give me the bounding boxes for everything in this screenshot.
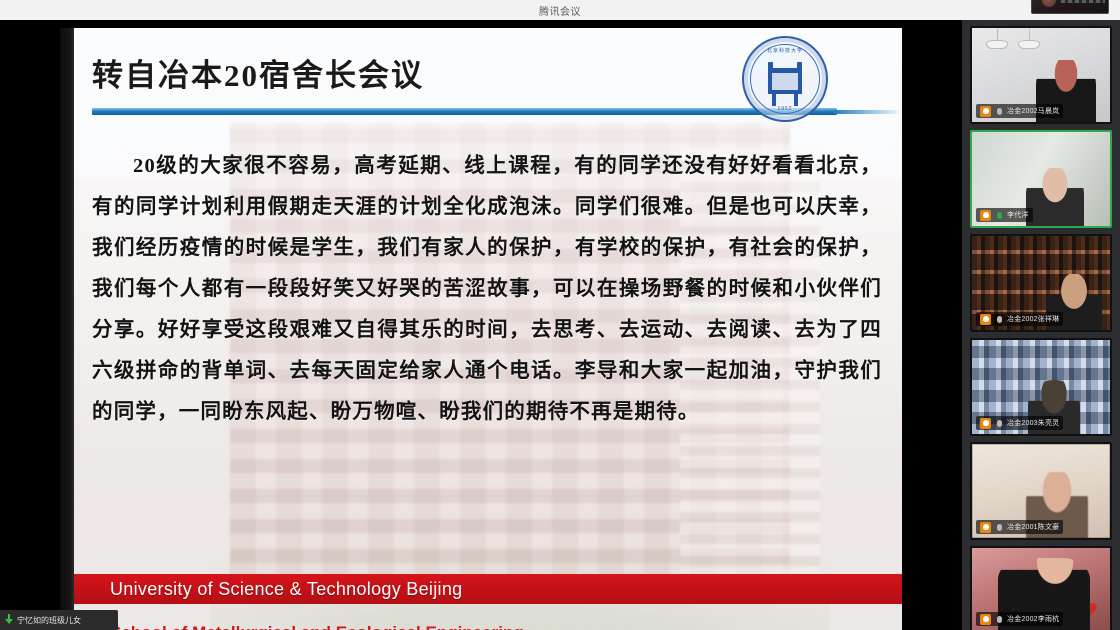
- microphone-muted-icon: [994, 614, 1004, 625]
- slide-left-spine: [60, 28, 74, 630]
- host-badge-icon: [980, 614, 991, 625]
- university-seal-logo: 北京科技大学 1952: [742, 36, 828, 122]
- participant-name-plate: 李代洋: [976, 208, 1033, 222]
- microphone-muted-icon: [994, 106, 1004, 117]
- slide-header: 转自冶本20宿舍长会议 北京科技大学 1952: [74, 28, 902, 138]
- window-title-bar: 腾讯会议: [0, 0, 1120, 20]
- participant-tile[interactable]: 冶金2002李雨杭: [970, 546, 1112, 630]
- self-view-background: [1061, 0, 1105, 3]
- participant-tile[interactable]: 冶金2001陈文豪: [970, 442, 1112, 540]
- seal-ding-vessel-icon: [768, 68, 802, 94]
- participant-name-plate: 冶金2002李雨杭: [976, 612, 1063, 626]
- title-underline-rule: [92, 108, 837, 115]
- shared-screen-stage: 转自冶本20宿舍长会议 北京科技大学 1952 20级的大家很不容易，高考延期、…: [0, 20, 962, 630]
- host-badge-icon: [980, 314, 991, 325]
- participant-tile[interactable]: 冶金2003朱亮灵: [970, 338, 1112, 436]
- participant-name-plate: 冶金2003朱亮灵: [976, 416, 1063, 430]
- participant-name-plate: 冶金2002张祥琳: [976, 312, 1063, 326]
- self-view-face: [1042, 0, 1056, 7]
- participant-name: 冶金2002马晨岚: [1007, 106, 1059, 116]
- slide-title: 转自冶本20宿舍长会议: [92, 50, 424, 95]
- lamp-icon: [986, 40, 1008, 49]
- host-badge-icon: [980, 210, 991, 221]
- slide-body-text: 20级的大家很不容易，高考延期、线上课程，有的同学还没有好好看看北京，有的同学计…: [92, 146, 882, 433]
- participant-name: 冶金2002张祥琳: [1007, 314, 1059, 324]
- self-view-thumbnail[interactable]: [1031, 0, 1109, 14]
- microphone-muted-icon: [994, 522, 1004, 533]
- lamp-icon: [1018, 40, 1040, 49]
- slide-footer-red-bar: University of Science & Technology Beiji…: [74, 574, 902, 604]
- participant-tile[interactable]: 冶金2002张祥琳: [970, 234, 1112, 332]
- seal-bottom-text: 1952: [744, 106, 826, 112]
- tencent-meeting-window: 腾讯会议 转自冶本20宿舍长会议 北京科技大学: [0, 0, 1120, 630]
- microphone-active-icon: [994, 210, 1004, 221]
- microphone-muted-icon: [994, 314, 1004, 325]
- participant-name: 李代洋: [1007, 210, 1029, 220]
- microphone-muted-icon: [994, 418, 1004, 429]
- host-badge-icon: [980, 418, 991, 429]
- title-underline-tail: [834, 110, 902, 114]
- download-arrow-icon: [4, 614, 14, 626]
- participant-name: 冶金2001陈文豪: [1007, 522, 1059, 532]
- seal-top-text: 北京科技大学: [744, 47, 826, 54]
- seal-ding-leg-left: [772, 94, 776, 106]
- app-title: 腾讯会议: [539, 3, 581, 18]
- presentation-slide: 转自冶本20宿舍长会议 北京科技大学 1952 20级的大家很不容易，高考延期、…: [60, 28, 902, 630]
- participant-name: 冶金2003朱亮灵: [1007, 418, 1059, 428]
- slide-footer-university-name: University of Science & Technology Beiji…: [110, 579, 462, 600]
- download-notification-bar[interactable]: 宁忆如的班级儿女: [0, 610, 118, 630]
- participant-name: 冶金2002李雨杭: [1007, 614, 1059, 624]
- download-file-label: 宁忆如的班级儿女: [17, 615, 81, 626]
- heart-pin-icon: [1084, 604, 1095, 615]
- participant-video-rail[interactable]: 冶金2002马晨岚 李代洋 冶金2002张祥琳 冶金: [962, 20, 1120, 630]
- participant-tile-active-speaker[interactable]: 李代洋: [970, 130, 1112, 228]
- host-badge-icon: [980, 106, 991, 117]
- participant-tile[interactable]: 冶金2002马晨岚: [970, 26, 1112, 124]
- seal-ding-leg-right: [794, 94, 798, 106]
- slide-footer-school-name: School of Metallurgical and Ecological E…: [110, 621, 810, 630]
- host-badge-icon: [980, 522, 991, 533]
- slide-body-paragraph: 20级的大家很不容易，高考延期、线上课程，有的同学还没有好好看看北京，有的同学计…: [92, 146, 882, 433]
- participant-name-plate: 冶金2001陈文豪: [976, 520, 1063, 534]
- participant-name-plate: 冶金2002马晨岚: [976, 104, 1063, 118]
